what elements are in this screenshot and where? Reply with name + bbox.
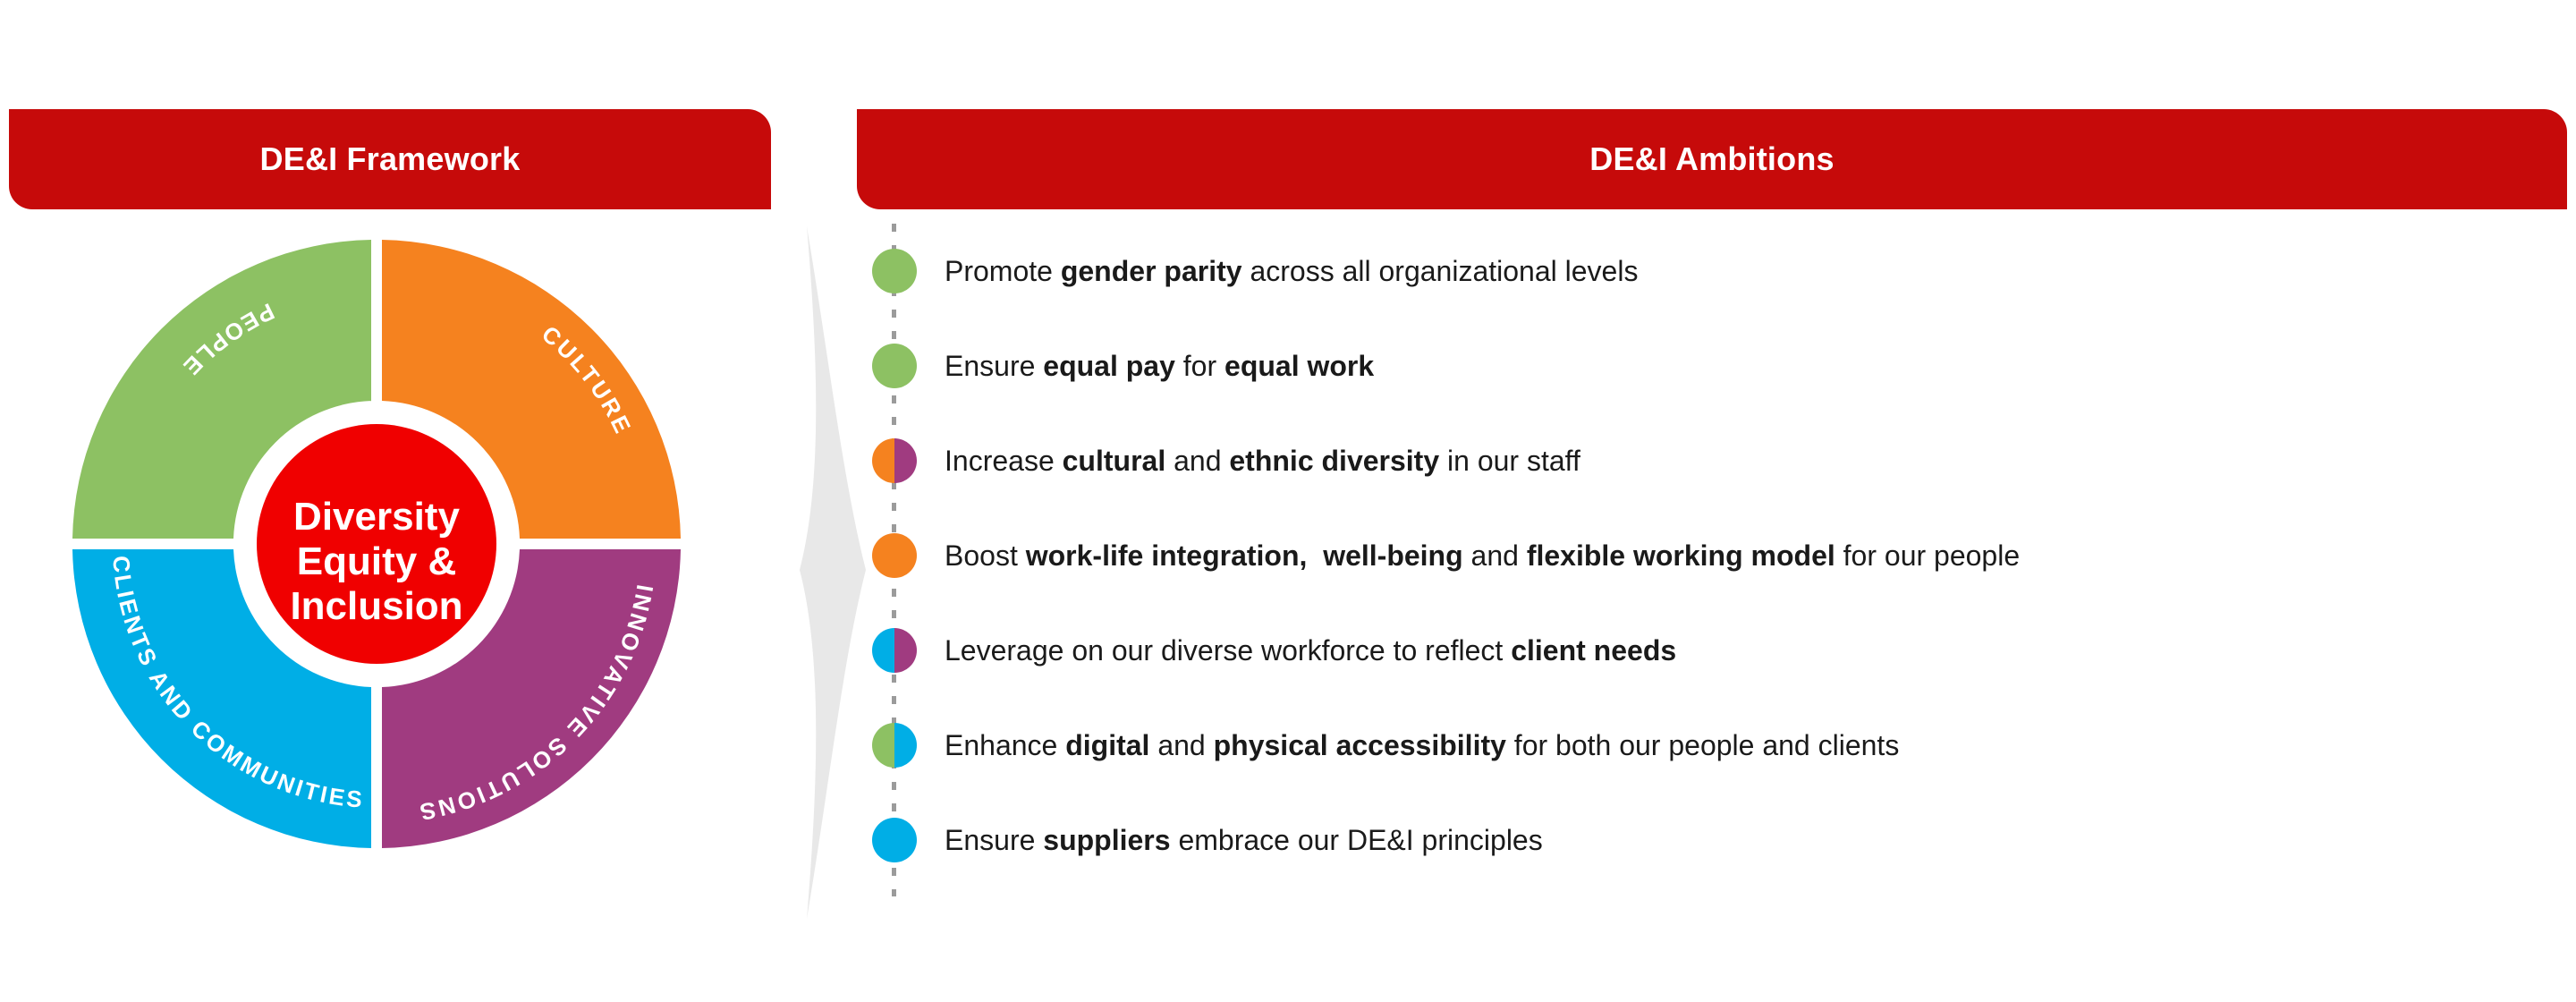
bullet-half-right: [894, 344, 917, 388]
ambition-row[interactable]: Increase cultural and ethnic diversity i…: [857, 413, 2556, 508]
ambitions-banner-label: DE&I Ambitions: [1589, 140, 1834, 178]
bullet-half-right: [894, 818, 917, 862]
ambition-text: Promote gender parity across all organiz…: [945, 253, 1638, 289]
ambition-bullet-icon: [872, 438, 917, 483]
framework-banner-title: DE&I Framework: [9, 109, 771, 209]
ambition-row[interactable]: Leverage on our diverse workforce to ref…: [857, 603, 2556, 698]
ambition-text: Ensure suppliers embrace our DE&I princi…: [945, 822, 1543, 858]
ambition-bullet-icon: [872, 344, 917, 388]
framework-panel: PEOPLE CULTURE INNOVATIVE SOLUTIONS CLIE…: [0, 215, 771, 877]
bullet-half-left: [872, 344, 894, 388]
ambition-row[interactable]: Promote gender parity across all organiz…: [857, 224, 2556, 318]
ambition-row[interactable]: Ensure equal pay for equal work: [857, 318, 2556, 413]
ambition-row[interactable]: Ensure suppliers embrace our DE&I princi…: [857, 793, 2556, 887]
ambition-bullet-icon: [872, 249, 917, 293]
ambition-text: Ensure equal pay for equal work: [945, 348, 1374, 384]
ambition-bullet-icon: [872, 628, 917, 673]
ambition-text: Leverage on our diverse workforce to ref…: [945, 633, 1676, 668]
center-text-line-1: Diversity: [293, 495, 460, 539]
bullet-half-left: [872, 249, 894, 293]
bullet-half-right: [894, 533, 917, 578]
ambition-text: Enhance digital and physical accessibili…: [945, 727, 1899, 763]
bullet-half-right: [894, 723, 917, 768]
bullet-half-left: [872, 533, 894, 578]
ambitions-list: Promote gender parity across all organiz…: [857, 224, 2556, 887]
center-text-line-2: Equity &: [297, 539, 456, 583]
ambitions-banner-title: DE&I Ambitions: [857, 109, 2567, 209]
bullet-half-right: [894, 438, 917, 483]
ambition-text: Boost work-life integration, well-being …: [945, 538, 2020, 573]
ambition-text: Increase cultural and ethnic diversity i…: [945, 443, 1580, 479]
bullet-half-right: [894, 628, 917, 673]
ambitions-panel: Promote gender parity across all organiz…: [857, 224, 2556, 939]
bullet-half-left: [872, 438, 894, 483]
ambition-bullet-icon: [872, 723, 917, 768]
center-text-line-3: Inclusion: [290, 584, 462, 628]
framework-banner-label: DE&I Framework: [260, 140, 521, 178]
bullet-half-left: [872, 628, 894, 673]
bullet-half-left: [872, 818, 894, 862]
dei-framework-donut-chart: PEOPLE CULTURE INNOVATIVE SOLUTIONS CLIE…: [58, 225, 695, 862]
bullet-half-right: [894, 249, 917, 293]
bullet-half-left: [872, 723, 894, 768]
ambition-bullet-icon: [872, 533, 917, 578]
ambition-row[interactable]: Boost work-life integration, well-being …: [857, 508, 2556, 603]
ambition-bullet-icon: [872, 818, 917, 862]
ambition-row[interactable]: Enhance digital and physical accessibili…: [857, 698, 2556, 793]
ribbon-shape: [800, 226, 866, 919]
